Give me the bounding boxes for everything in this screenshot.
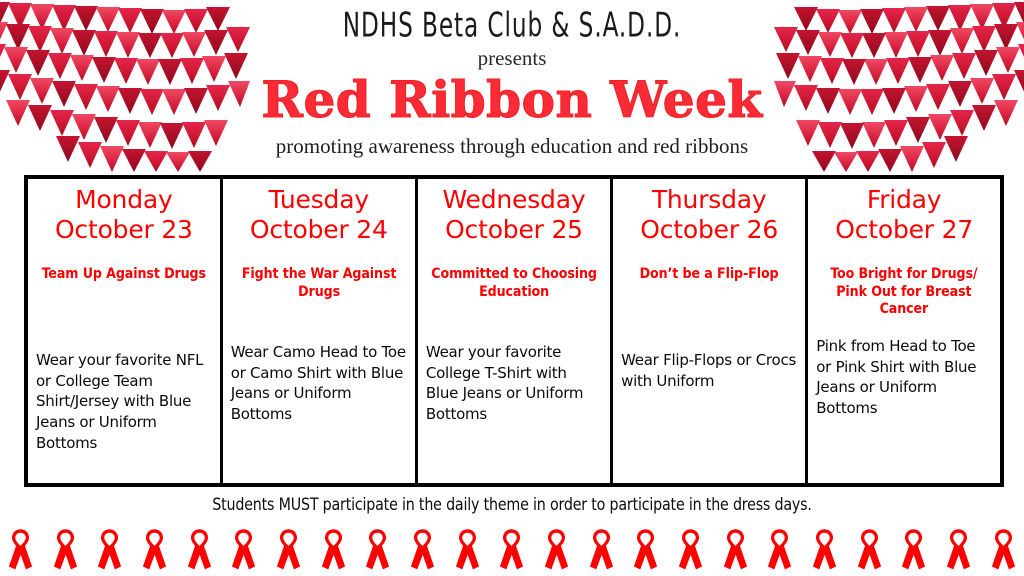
awareness-ribbon-icon <box>810 527 839 574</box>
day-theme: Committed to Choosing Education <box>428 266 601 301</box>
poster-header: NDHS Beta Club & S.A.D.D. presents Red R… <box>0 0 1024 157</box>
schedule-cell-wednesday: Wednesday October 25 Committed to Choosi… <box>416 177 611 485</box>
awareness-ribbon-icon <box>587 527 616 574</box>
day-dress-code: Wear your favorite NFL or College Team S… <box>35 350 213 453</box>
schedule-cell-thursday: Thursday October 26 Don’t be a Flip-Flop… <box>612 177 807 485</box>
awareness-ribbon-icon <box>855 527 884 574</box>
awareness-ribbon-icon <box>95 527 124 574</box>
day-date: October 24 <box>230 215 408 245</box>
day-dress-code: Pink from Head to Toe or Pink Shirt with… <box>815 336 993 419</box>
day-date: October 27 <box>815 215 993 245</box>
day-name: Tuesday <box>230 185 408 215</box>
awareness-ribbon-icon <box>408 527 437 574</box>
day-name: Wednesday <box>425 185 603 215</box>
day-dress-code: Wear Flip-Flops or Crocs with Uniform <box>620 350 798 391</box>
day-theme: Don’t be a Flip-Flop <box>623 266 796 284</box>
day-theme: Too Bright for Drugs/ Pink Out for Breas… <box>818 266 990 319</box>
day-theme: Fight the War Against Drugs <box>232 266 405 301</box>
awareness-ribbon-icon <box>185 527 214 574</box>
page-title: Red Ribbon Week <box>0 69 1024 127</box>
awareness-ribbon-icon <box>229 527 258 574</box>
participation-note: Students MUST participate in the daily t… <box>20 495 1003 514</box>
day-dress-code: Wear your favorite College T-Shirt with … <box>425 342 603 425</box>
day-name: Monday <box>35 185 213 215</box>
awareness-ribbon-icon <box>899 527 928 574</box>
day-date: October 25 <box>425 215 603 245</box>
day-name: Friday <box>815 185 993 215</box>
schedule-cell-friday: Friday October 27 Too Bright for Drugs/ … <box>807 177 1002 485</box>
awareness-ribbon-icon <box>944 527 973 574</box>
awareness-ribbon-icon <box>6 527 35 574</box>
awareness-ribbon-icon <box>140 527 169 574</box>
awareness-ribbon-icon <box>989 527 1018 574</box>
day-name: Thursday <box>620 185 798 215</box>
awareness-ribbon-icon <box>765 527 794 574</box>
schedule-cell-tuesday: Tuesday October 24 Fight the War Against… <box>221 177 416 485</box>
schedule-cell-monday: Monday October 23 Team Up Against Drugs … <box>26 177 221 485</box>
awareness-ribbon-icon <box>363 527 392 574</box>
awareness-ribbon-icon <box>542 527 571 574</box>
awareness-ribbon-icon <box>497 527 526 574</box>
day-date: October 23 <box>35 215 213 245</box>
awareness-ribbon-icon <box>51 527 80 574</box>
ribbon-border-decoration <box>0 516 1024 574</box>
awareness-ribbon-icon <box>453 527 482 574</box>
awareness-ribbon-icon <box>319 527 348 574</box>
awareness-ribbon-icon <box>274 527 303 574</box>
table-row: Monday October 23 Team Up Against Drugs … <box>26 177 1002 485</box>
day-date: October 26 <box>620 215 798 245</box>
awareness-ribbon-icon <box>631 527 660 574</box>
day-dress-code: Wear Camo Head to Toe or Camo Shirt with… <box>230 342 408 425</box>
awareness-ribbon-icon <box>721 527 750 574</box>
red-ribbon-week-poster: NDHS Beta Club & S.A.D.D. presents Red R… <box>0 0 1024 576</box>
awareness-ribbon-icon <box>676 527 705 574</box>
poster-tagline: promoting awareness through education an… <box>0 127 1024 157</box>
day-theme: Team Up Against Drugs <box>38 266 210 284</box>
weekly-schedule-table: Monday October 23 Team Up Against Drugs … <box>24 175 1004 487</box>
organization-title: NDHS Beta Club & S.A.D.D. <box>41 0 983 43</box>
